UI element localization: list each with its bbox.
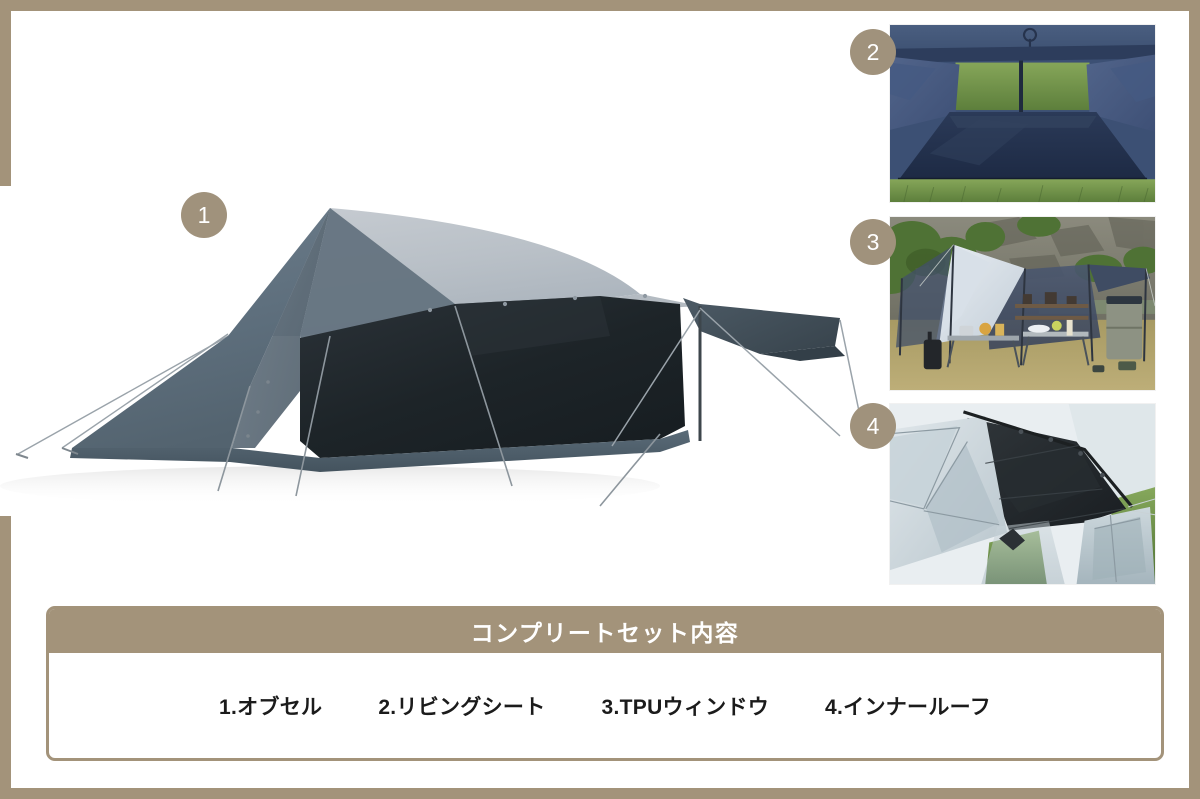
hero-tent-illustration (0, 186, 860, 516)
badge-living-sheet: 2 (850, 29, 896, 75)
badge-number: 1 (198, 204, 211, 227)
set-item-1: 1.オブセル (219, 691, 322, 721)
badge-number: 4 (867, 415, 880, 438)
thumbnail-living-sheet[interactable] (889, 24, 1156, 203)
complete-set-header: コンプリートセット内容 (49, 609, 1161, 653)
complete-set-title: コンプリートセット内容 (471, 614, 740, 648)
badge-number: 3 (867, 231, 880, 254)
set-item-4: 4.インナールーフ (825, 691, 991, 721)
badge-tpu-window: 3 (850, 219, 896, 265)
thumbnail-inner-roof[interactable] (889, 403, 1156, 585)
living-sheet-illustration (890, 25, 1155, 202)
set-item-2: 2.リビングシート (378, 691, 545, 721)
badge-number: 2 (867, 41, 880, 64)
campsite-illustration (890, 217, 1155, 390)
complete-set-items: 1.オブセル 2.リビングシート 3.TPUウィンドウ 4.インナールーフ (49, 653, 1161, 758)
hero-tent-image[interactable] (0, 186, 860, 516)
product-gallery-page: 1 (0, 0, 1200, 799)
badge-main-tent: 1 (181, 192, 227, 238)
thumbnail-tpu-window[interactable] (889, 216, 1156, 391)
inner-roof-illustration (890, 404, 1155, 584)
set-item-3: 3.TPUウィンドウ (602, 691, 770, 721)
badge-inner-roof: 4 (850, 403, 896, 449)
complete-set-card: コンプリートセット内容 1.オブセル 2.リビングシート 3.TPUウィンドウ … (46, 606, 1164, 761)
